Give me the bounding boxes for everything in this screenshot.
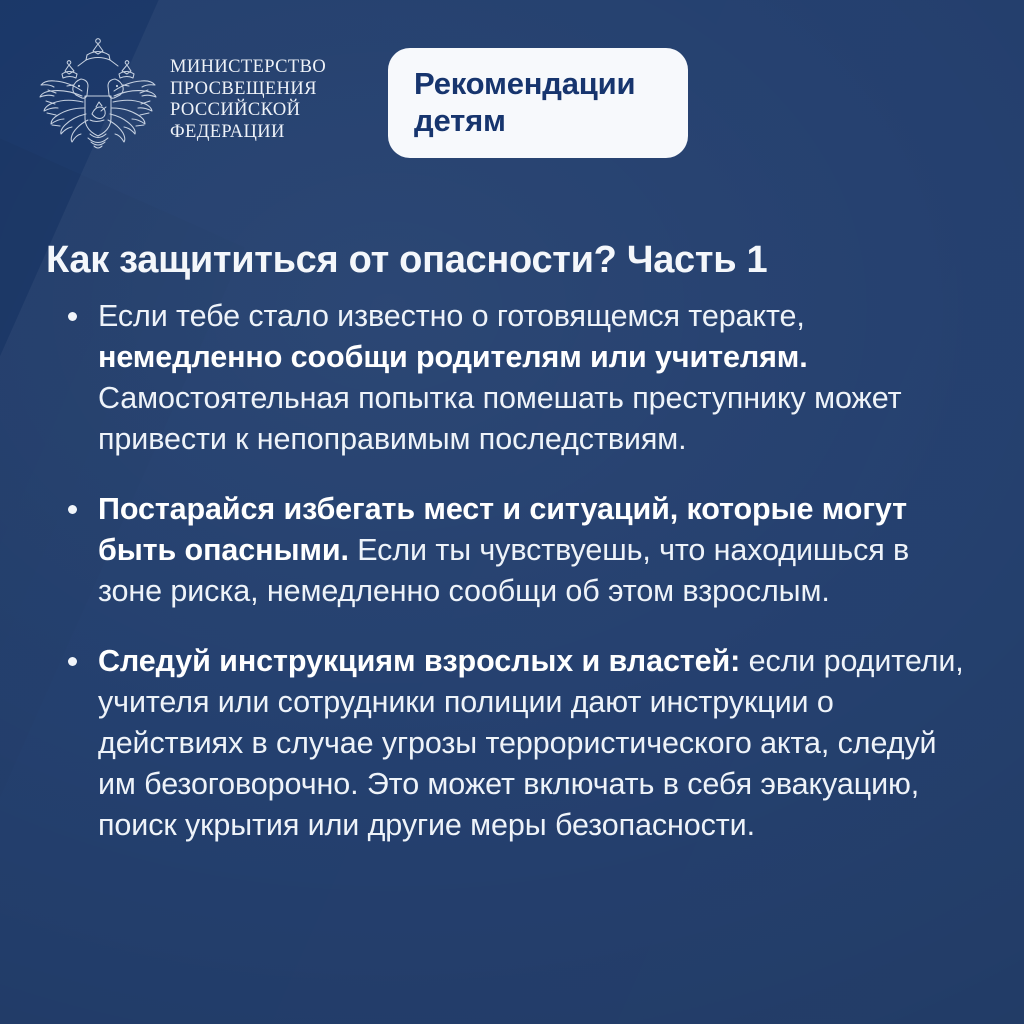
recommendations-list: Если тебе стало известно о готовящемся т… (58, 296, 978, 846)
poster-root: МИНИСТЕРСТВО ПРОСВЕЩЕНИЯ РОССИЙСКОЙ ФЕДЕ… (0, 0, 1024, 1024)
ministry-name: МИНИСТЕРСТВО ПРОСВЕЩЕНИЯ РОССИЙСКОЙ ФЕДЕ… (170, 43, 326, 143)
ministry-line-2: ПРОСВЕЩЕНИЯ (170, 79, 326, 101)
bullet-dot-icon (68, 505, 77, 514)
ministry-branding: МИНИСТЕРСТВО ПРОСВЕЩЕНИЯ РОССИЙСКОЙ ФЕДЕ… (38, 34, 326, 152)
bullet-dot-icon (68, 657, 77, 666)
list-item: Следуй инструкциям взрослых и властей: е… (58, 641, 978, 846)
list-item: Постарайся избегать мест и ситуаций, кот… (58, 489, 978, 612)
header: МИНИСТЕРСТВО ПРОСВЕЩЕНИЯ РОССИЙСКОЙ ФЕДЕ… (38, 34, 986, 154)
ministry-line-1: МИНИСТЕРСТВО (170, 57, 326, 79)
bullet-text: Постарайся избегать мест и ситуаций, кот… (98, 489, 978, 612)
category-badge-text: Рекомендации детям (414, 65, 635, 139)
category-badge-line-1: Рекомендации (414, 66, 635, 101)
page-title: Как защититься от опасности? Часть 1 (46, 237, 976, 283)
category-badge: Рекомендации детям (388, 48, 688, 158)
ministry-line-4: ФЕДЕРАЦИИ (170, 122, 326, 144)
bullet-text: Если тебе стало известно о готовящемся т… (98, 296, 978, 460)
russian-federation-eagle-emblem-icon (38, 34, 158, 152)
bullet-text: Следуй инструкциям взрослых и властей: е… (98, 641, 978, 846)
list-item: Если тебе стало известно о готовящемся т… (58, 296, 978, 460)
category-badge-line-2: детям (414, 103, 506, 138)
bullet-dot-icon (68, 312, 77, 321)
ministry-line-3: РОССИЙСКОЙ (170, 100, 326, 122)
